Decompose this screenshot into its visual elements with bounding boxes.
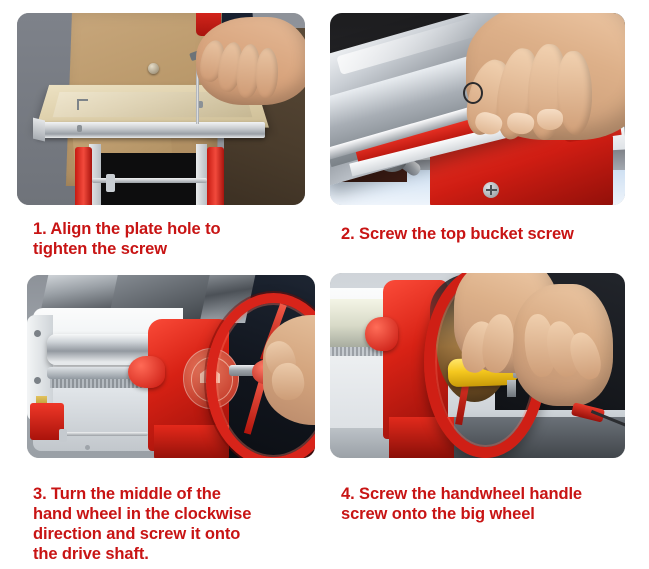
top-bucket-screw (463, 82, 483, 104)
handle-bolt (507, 380, 516, 397)
machine-leg-red-left (75, 147, 92, 205)
step-1-photo (17, 13, 305, 205)
step-2-caption: 2. Screw the top bucket screw (341, 224, 641, 244)
step-4-caption: 4. Screw the handwheel handle screw onto… (341, 484, 641, 524)
bottom-rod-nut (59, 429, 68, 442)
step-2-photo (330, 13, 625, 205)
crossbar-nut (106, 174, 115, 191)
step-1-caption: 1. Align the plate hole to tighten the s… (33, 219, 323, 259)
instruction-sheet: 1. Align the plate hole to tighten the s… (0, 0, 649, 569)
adjustment-knob (365, 317, 397, 350)
adjustment-knob (128, 356, 165, 389)
machine-leg-red-right (207, 147, 224, 205)
machine-leg-white-right (196, 144, 208, 205)
apron-button (148, 63, 159, 74)
step-3-caption: 3. Turn the middle of the hand wheel in … (33, 484, 323, 564)
step-3-photo (27, 275, 315, 458)
finger (255, 47, 278, 98)
step-4-photo (330, 273, 625, 458)
plate-bracket-icon (77, 99, 88, 110)
bottom-rod (62, 432, 148, 436)
stainless-rail (37, 122, 265, 137)
rail-end-cap (33, 117, 45, 141)
base-screw (85, 445, 90, 450)
fingernail (537, 109, 564, 130)
